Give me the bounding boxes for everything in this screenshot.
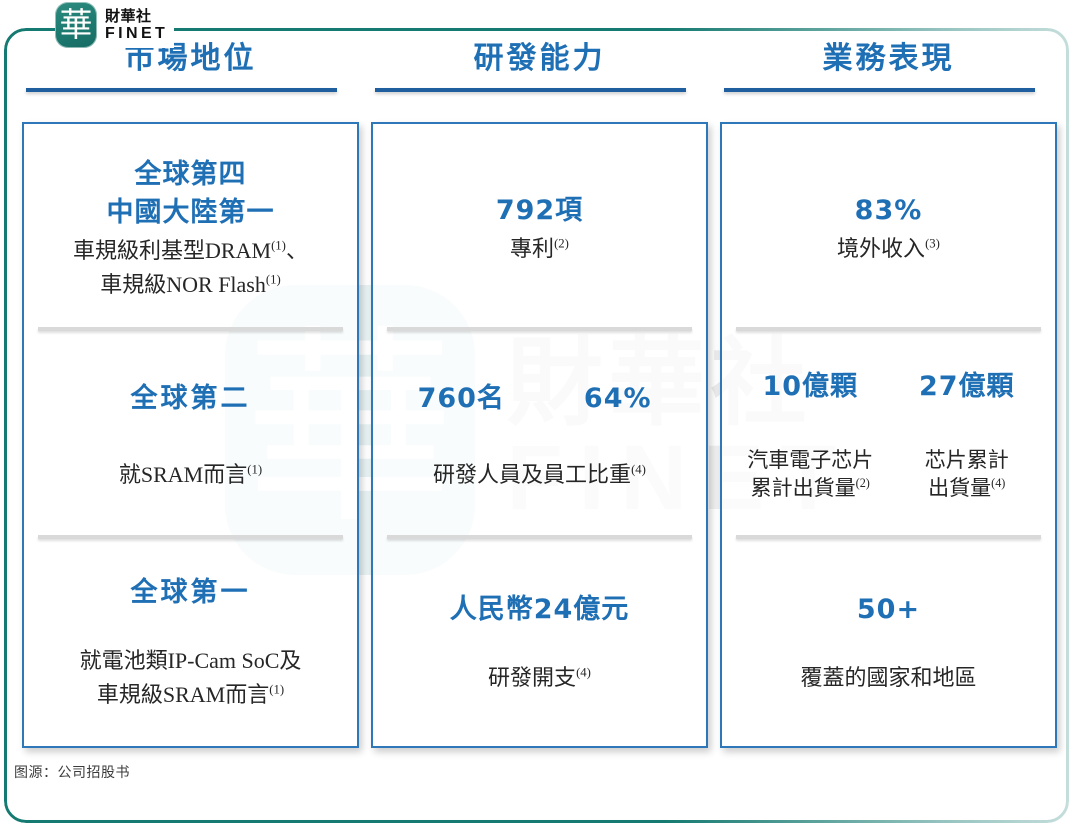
stat-card-row: 全球第四 中國大陸第一 車規級利基型DRAM(1)、 車規級NOR Flash(… [22,122,1057,748]
header-underline [26,88,337,92]
stat-caption-line2: 車規級NOR Flash(1) [100,270,281,300]
stat-caption-text: 就SRAM而言 [119,462,247,487]
stat-caption-pair: 汽車電子芯片 累計出貨量(2) 芯片累計 出貨量(4) [732,446,1045,502]
source-note: 图源：公司招股书 [14,762,130,782]
footnote-ref: (4) [991,476,1005,490]
stat-caption-tail: 、 [286,238,308,263]
brand-logo-text: 財華社 FINET [105,9,168,42]
stat-headline-pair: 10億顆 27億顆 [732,368,1045,406]
stat-headline-pair: 760名 64% [383,380,696,418]
logo-glyph: 華 [55,2,97,48]
stat-caption-text: 出貨量 [928,476,991,500]
stat-headline: 50+ [857,591,920,629]
stat-caption: 就SRAM而言(1) [119,460,262,490]
stat-caption: 就電池類IP-Cam SoC及 [80,646,302,676]
stat-cell: 83% 境外收入(3) [722,124,1055,331]
stat-caption: 專利(2) [510,234,569,264]
stat-caption-text: 覆蓋的國家和地區 [800,665,976,690]
stat-cell: 50+ 覆蓋的國家和地區 [722,539,1055,746]
footnote-ref: (4) [631,463,646,477]
stat-cell: 全球第二 就SRAM而言(1) [24,331,357,538]
stat-caption-text: 研發人員及員工比重 [433,462,631,487]
stat-caption: 研發人員及員工比重(4) [433,460,646,490]
stat-cell: 人民幣24億元 研發開支(4) [373,539,706,746]
footnote-ref: (1) [269,683,284,697]
stat-caption-text: 車規級利基型DRAM [73,238,271,263]
brand-logo: 華 財華社 FINET [55,2,174,48]
stat-caption-right: 芯片累計 出貨量(4) [889,446,1046,502]
infographic-page: 華 財華社 FINET 華 財華社 FINET 市場地位 研發能力 業務表現 [0,0,1077,835]
stat-card-rnd-capability: 792項 專利(2) 760名 64% 研發人員及員工比重(4) 人民幣24億元… [371,122,708,748]
stat-headline: 全球第二 [131,380,251,418]
finet-logo-icon: 華 [55,2,97,48]
stat-cell: 全球第一 就電池類IP-Cam SoC及 車規級SRAM而言(1) [24,539,357,746]
column-header-business-performance: 業務表現 [720,38,1057,92]
stat-caption: 境外收入(3) [837,234,940,264]
stat-caption-left: 汽車電子芯片 累計出貨量(2) [732,446,889,502]
footnote-ref: (4) [576,666,591,680]
footnote-ref: (1) [266,272,281,286]
stat-card-market-position: 全球第四 中國大陸第一 車規級利基型DRAM(1)、 車規級NOR Flash(… [22,122,359,748]
stat-card-business-performance: 83% 境外收入(3) 10億顆 27億顆 汽車電子芯片 累計出貨量(2) 芯片… [720,122,1057,748]
footnote-ref: (2) [856,476,870,490]
stat-headline: 760名 [383,380,540,418]
stat-headline: 10億顆 [732,368,889,406]
footnote-ref: (1) [247,463,262,477]
stat-caption-text: 專利 [510,236,554,261]
stat-caption-text: 芯片累計 [925,448,1009,472]
stat-caption: 車規級利基型DRAM(1)、 [73,236,308,266]
stat-headline: 全球第四 [135,156,247,194]
footnote-ref: (1) [271,238,286,252]
stat-caption-text: 境外收入 [837,236,925,261]
stat-cell: 10億顆 27億顆 汽車電子芯片 累計出貨量(2) 芯片累計 出貨量(4) [722,331,1055,538]
column-header-label: 業務表現 [720,38,1057,80]
brand-name-en: FINET [105,26,168,42]
stat-headline-secondary: 27億顆 [889,368,1046,406]
stat-headline: 83% [855,192,923,230]
brand-name-cn: 財華社 [105,9,168,24]
stat-cell: 760名 64% 研發人員及員工比重(4) [373,331,706,538]
footnote-ref: (3) [925,236,940,250]
column-headers: 市場地位 研發能力 業務表現 [22,38,1057,92]
header-underline [724,88,1035,92]
stat-caption-text: 汽車電子芯片 [747,448,873,472]
stat-headline: 792項 [496,192,583,230]
header-underline [375,88,686,92]
stat-caption-text: 車規級NOR Flash [100,272,266,297]
stat-headline: 全球第一 [131,574,251,612]
stat-headline-secondary: 中國大陸第一 [107,194,275,232]
stat-caption-line2: 車規級SRAM而言(1) [97,680,284,710]
stat-caption-text: 累計出貨量 [751,476,856,500]
stat-caption: 研發開支(4) [488,663,591,693]
stat-cell: 全球第四 中國大陸第一 車規級利基型DRAM(1)、 車規級NOR Flash(… [24,124,357,331]
stat-cell: 792項 專利(2) [373,124,706,331]
column-header-label: 研發能力 [371,38,708,80]
column-header-rnd-capability: 研發能力 [371,38,708,92]
stat-caption: 覆蓋的國家和地區 [800,663,976,693]
stat-headline: 人民幣24億元 [450,591,630,629]
stat-caption-text: 車規級SRAM而言 [97,682,269,707]
footnote-ref: (2) [554,236,569,250]
stat-caption-text: 就電池類IP-Cam SoC及 [80,648,302,673]
stat-headline-secondary: 64% [540,380,697,418]
stat-caption-text: 研發開支 [488,665,576,690]
